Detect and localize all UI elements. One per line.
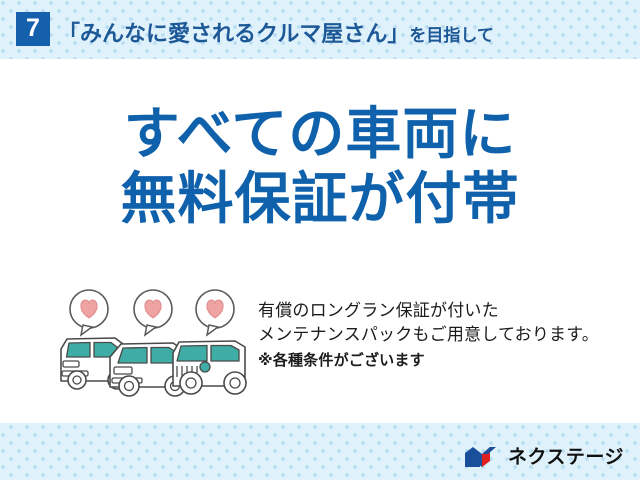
brand-name-label: ネクステージ	[508, 448, 624, 467]
three-cars-with-heart-bubbles-illustration	[55, 287, 251, 403]
header-title-quoted: 「みんなに愛されるクルマ屋さん」	[58, 21, 409, 46]
banner-header: 7 「みんなに愛されるクルマ屋さん」を目指して	[0, 0, 640, 59]
brand-logo: ネクステージ	[464, 445, 624, 469]
body-copy: 有償のロングラン保証が付いた メンテナンスパックもご用意しております。 ※各種条…	[258, 299, 599, 372]
body-copy-line-2: メンテナンスパックもご用意しております。	[258, 323, 599, 347]
advertisement-banner: 7 「みんなに愛されるクルマ屋さん」を目指して すべての車両に 無料保証が付帯	[0, 0, 640, 480]
page-title: すべての車両に 無料保証が付帯	[0, 102, 640, 232]
content-card: すべての車両に 無料保証が付帯	[0, 59, 640, 423]
body-copy-note: ※各種条件がございます	[258, 350, 599, 371]
body-copy-line-1: 有償のロングラン保証が付いた	[258, 299, 599, 323]
car-illustration-3	[173, 341, 246, 394]
section-number-label: 7	[26, 16, 40, 41]
header-title-suffix: を目指して	[409, 26, 494, 45]
header-title: 「みんなに愛されるクルマ屋さん」を目指して	[58, 16, 494, 48]
info-row: 有償のロングラン保証が付いた メンテナンスパックもご用意しております。 ※各種条…	[0, 287, 640, 405]
headline-line-2: 無料保証が付帯	[0, 167, 640, 232]
section-number-badge: 7	[16, 12, 50, 46]
nextage-n-mark-icon	[464, 445, 500, 469]
headline-line-1: すべての車両に	[0, 102, 640, 167]
